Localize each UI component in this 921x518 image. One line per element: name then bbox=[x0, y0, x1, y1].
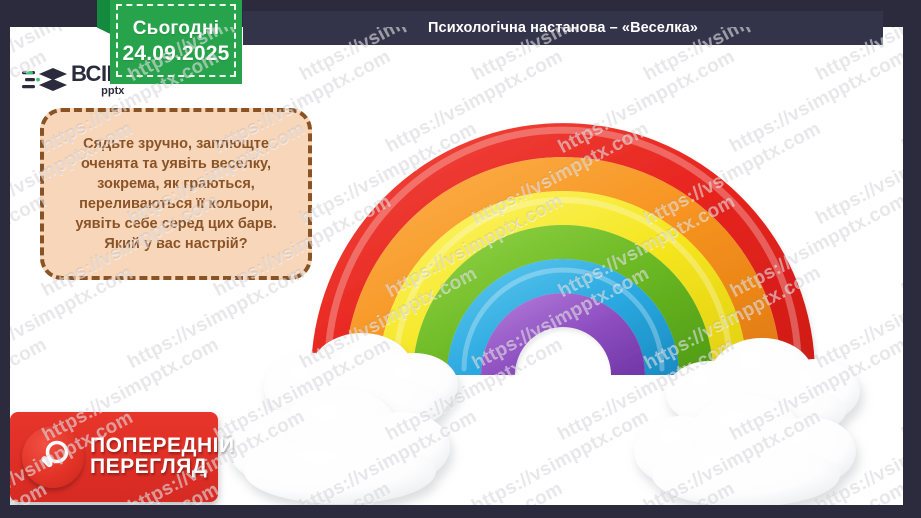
preview-button[interactable]: ПОПЕРЕДНІЙ ПЕРЕГЛЯД bbox=[10, 412, 218, 502]
today-date-badge: Сьогодні 24.09.2025 bbox=[110, 0, 242, 84]
instruction-callout: Сядьте зручно, заплющте оченята та уявіт… bbox=[40, 108, 312, 280]
logo-subtext: pptx bbox=[71, 86, 124, 96]
slide-canvas: Сядьте зручно, заплющте оченята та уявіт… bbox=[10, 27, 903, 505]
rainbow-arcs bbox=[328, 130, 798, 375]
date-badge-value: 24.09.2025 bbox=[122, 42, 229, 66]
preview-button-line2: ПЕРЕГЛЯД bbox=[90, 456, 235, 477]
slide-viewer: Сядьте зручно, заплющте оченята та уявіт… bbox=[0, 0, 921, 518]
instruction-text: Сядьте зручно, заплющте оченята та уявіт… bbox=[75, 134, 276, 254]
date-badge-label: Сьогодні bbox=[133, 18, 219, 40]
page-title: Психологічна настанова – «Веселка» bbox=[428, 20, 698, 36]
magnifier-icon bbox=[22, 426, 84, 488]
graduation-cap-icon bbox=[22, 61, 68, 99]
bottom-frame-strip bbox=[0, 505, 921, 518]
preview-button-line1: ПОПЕРЕДНІЙ bbox=[90, 435, 235, 456]
slide-title-bar: Психологічна настанова – «Веселка» bbox=[243, 11, 883, 45]
